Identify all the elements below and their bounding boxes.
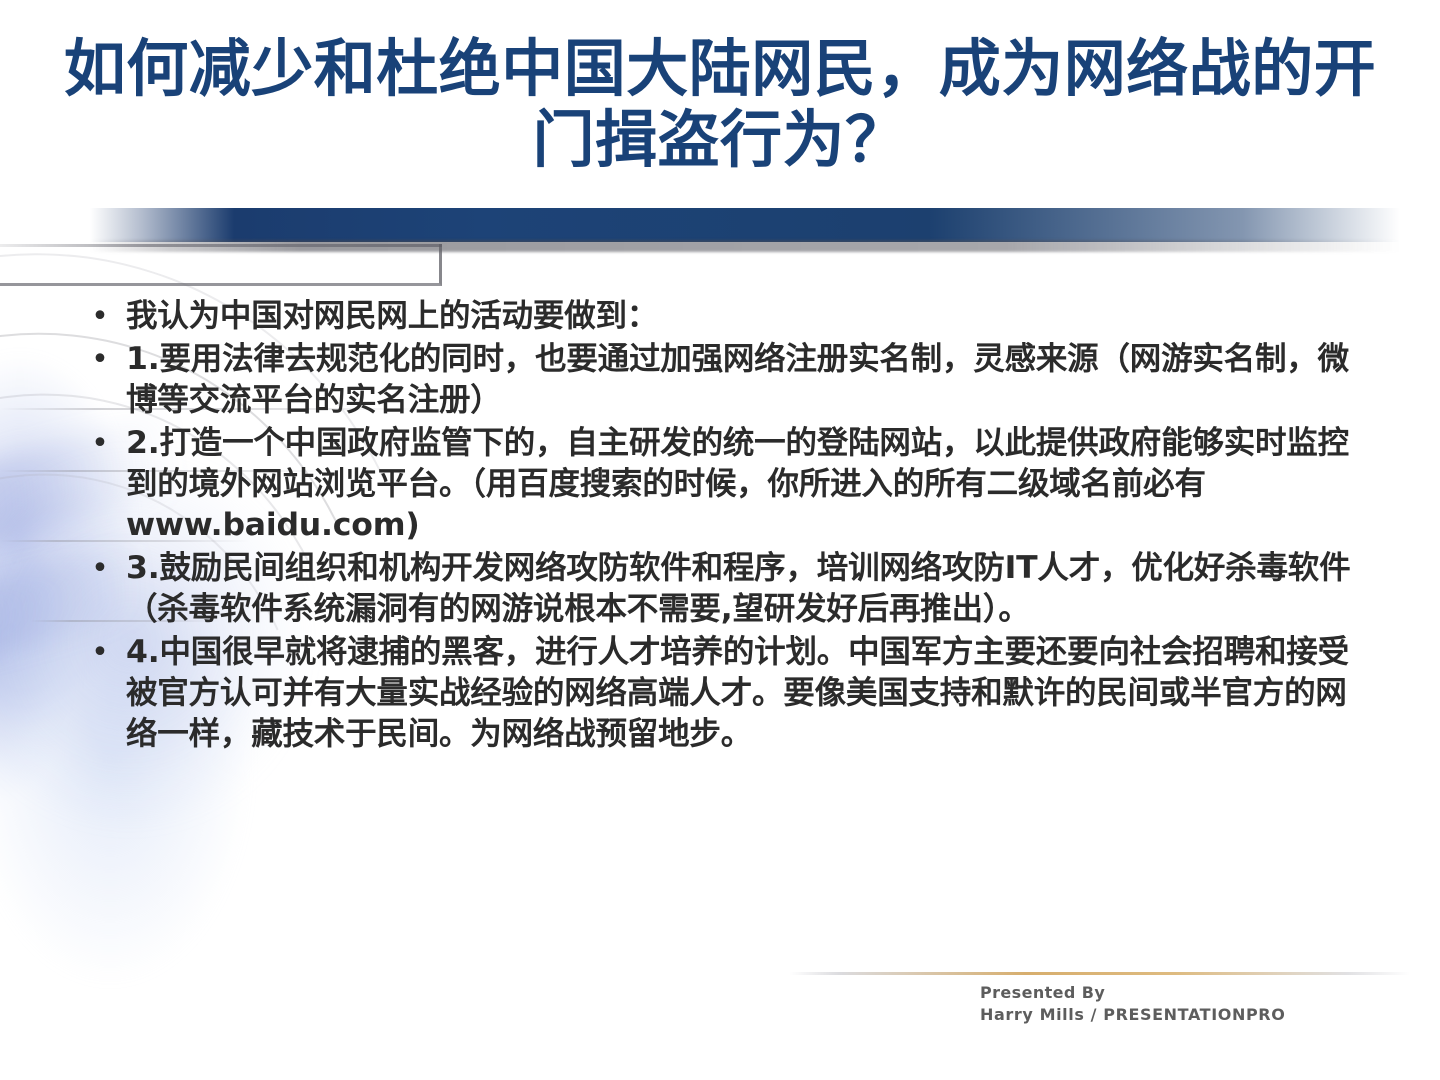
footer-divider bbox=[790, 972, 1410, 975]
list-item: • 1.要用法律去规范化的同时，也要通过加强网络注册实名制，灵感来源（网游实名制… bbox=[74, 339, 1374, 421]
bullet-dot-icon: • bbox=[74, 632, 126, 673]
bullet-text: 我认为中国对网民网上的活动要做到： bbox=[126, 296, 1374, 337]
bullet-text: 4.中国很早就将逮捕的黑客，进行人才培养的计划。中国军方主要还要向社会招聘和接受… bbox=[126, 632, 1374, 755]
footer-presented-by: Presented By bbox=[980, 982, 1400, 1004]
list-item: • 3.鼓励民间组织和机构开发网络攻防软件和程序，培训网络攻防IT人才，优化好杀… bbox=[74, 548, 1374, 630]
list-item: • 我认为中国对网民网上的活动要做到： bbox=[74, 296, 1374, 337]
footer-watermark: Presented By Harry Mills / PRESENTATIONP… bbox=[980, 982, 1400, 1026]
bullet-dot-icon: • bbox=[74, 296, 126, 337]
bullet-dot-icon: • bbox=[74, 548, 126, 589]
presentation-slide: 如何减少和杜绝中国大陆网民，成为网络战的开门揖盗行为？ • 我认为中国对网民网上… bbox=[0, 0, 1440, 1080]
bullet-text: 3.鼓励民间组织和机构开发网络攻防软件和程序，培训网络攻防IT人才，优化好杀毒软… bbox=[126, 548, 1374, 630]
bullet-dot-icon: • bbox=[74, 339, 126, 380]
slide-title: 如何减少和杜绝中国大陆网民，成为网络战的开门揖盗行为？ bbox=[60, 34, 1380, 175]
header-bracket bbox=[0, 244, 442, 286]
list-item: • 2.打造一个中国政府监管下的，自主研发的统一的登陆网站，以此提供政府能够实时… bbox=[74, 423, 1374, 546]
bullet-text: 1.要用法律去规范化的同时，也要通过加强网络注册实名制，灵感来源（网游实名制，微… bbox=[126, 339, 1374, 421]
bullet-text: 2.打造一个中国政府监管下的，自主研发的统一的登陆网站，以此提供政府能够实时监控… bbox=[126, 423, 1374, 546]
header-accent-bar bbox=[90, 208, 1400, 242]
slide-body: • 我认为中国对网民网上的活动要做到： • 1.要用法律去规范化的同时，也要通过… bbox=[74, 296, 1374, 757]
bullet-dot-icon: • bbox=[74, 423, 126, 464]
footer-author: Harry Mills / PRESENTATIONPRO bbox=[980, 1004, 1400, 1026]
list-item: • 4.中国很早就将逮捕的黑客，进行人才培养的计划。中国军方主要还要向社会招聘和… bbox=[74, 632, 1374, 755]
